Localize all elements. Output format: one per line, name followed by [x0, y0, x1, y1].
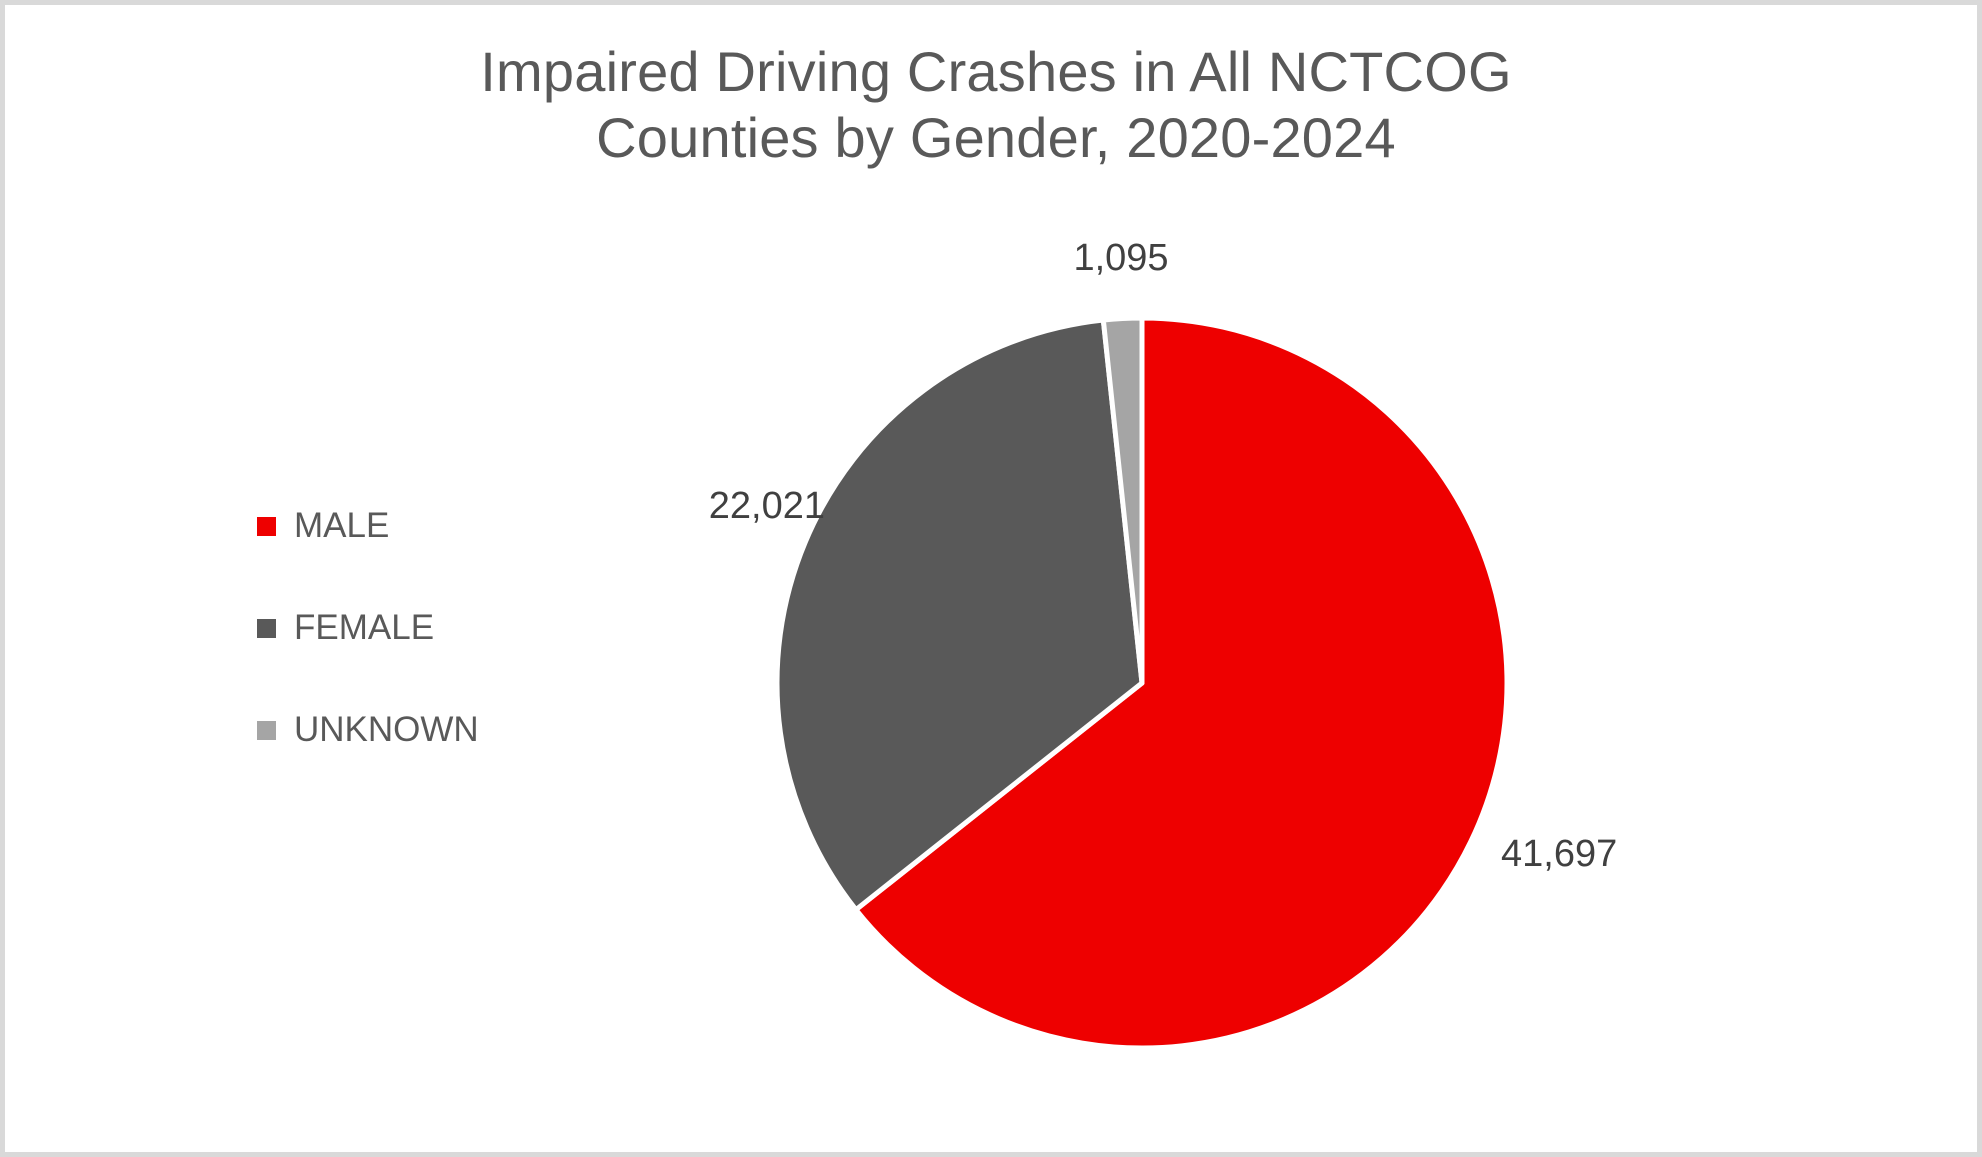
- legend-label-unknown: UNKNOWN: [294, 710, 479, 750]
- pie-chart-svg: [777, 318, 1507, 1048]
- legend-swatch-female-icon: [257, 619, 276, 638]
- chart-legend: MALE FEMALE UNKNOWN: [257, 475, 557, 781]
- legend-swatch-male-icon: [257, 517, 276, 536]
- legend-label-male: MALE: [294, 506, 389, 546]
- chart-title-line-2: Counties by Gender, 2020-2024: [596, 106, 1396, 169]
- chart-title-line-1: Impaired Driving Crashes in All NCTCOG: [480, 40, 1511, 103]
- pie-slice-group: [777, 318, 1507, 1048]
- legend-swatch-unknown-icon: [257, 721, 276, 740]
- legend-item-female[interactable]: FEMALE: [257, 577, 557, 679]
- chart-container: Impaired Driving Crashes in All NCTCOG C…: [0, 0, 1982, 1157]
- legend-label-female: FEMALE: [294, 608, 434, 648]
- pie-chart-plot-area: [777, 318, 1507, 1048]
- data-label-female: 22,021: [645, 485, 825, 528]
- legend-item-unknown[interactable]: UNKNOWN: [257, 679, 557, 781]
- legend-item-male[interactable]: MALE: [257, 475, 557, 577]
- chart-title: Impaired Driving Crashes in All NCTCOG C…: [5, 39, 1982, 171]
- data-label-unknown: 1,095: [1031, 237, 1211, 280]
- data-label-male: 41,697: [1501, 833, 1701, 876]
